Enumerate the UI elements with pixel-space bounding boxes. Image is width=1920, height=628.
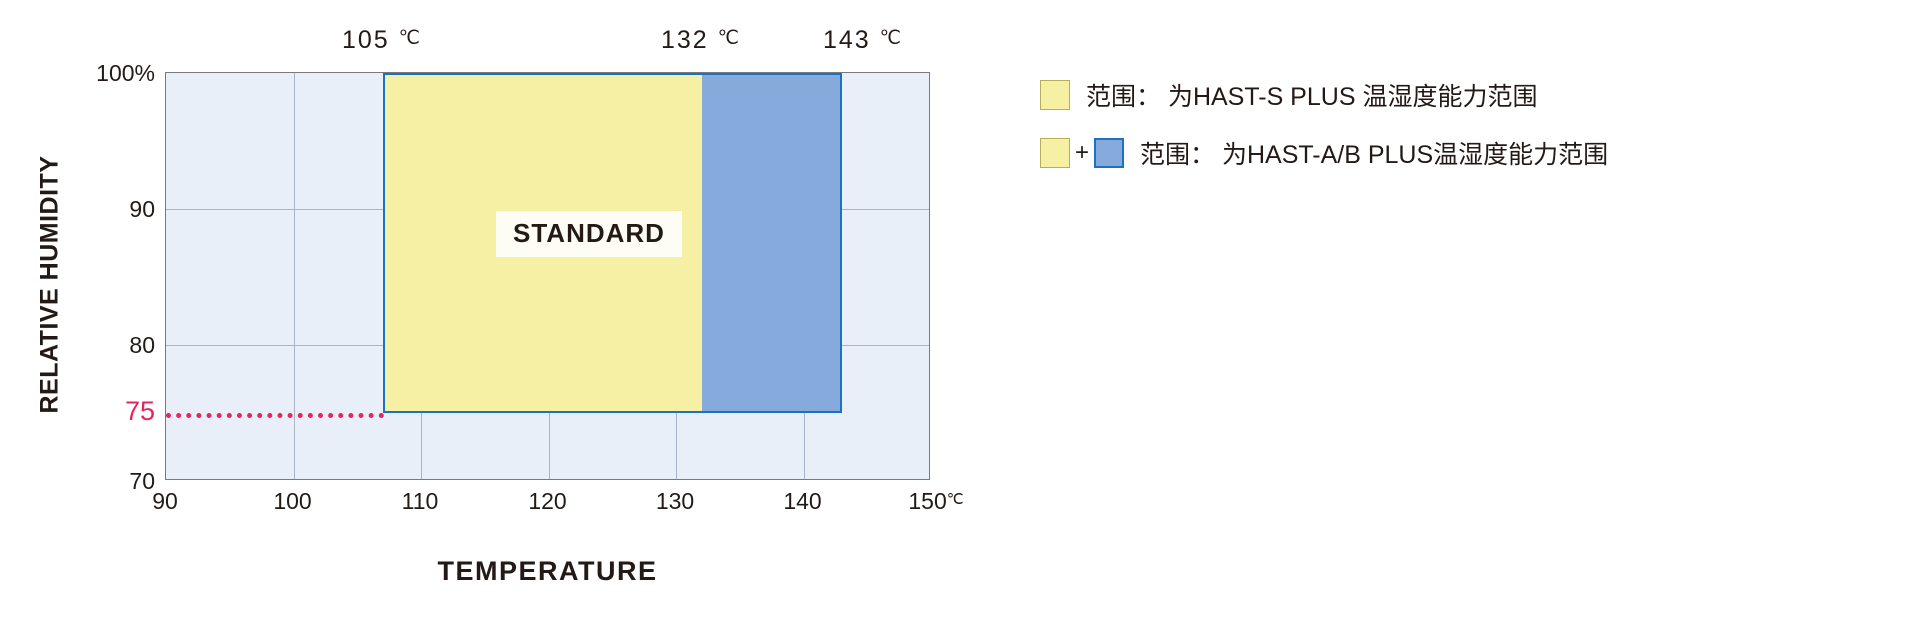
chart-page: 105 ℃ 132 ℃ 143 ℃ RELATIVE HUMIDITY 100%… xyxy=(0,0,1920,628)
gridline-x-100 xyxy=(294,73,295,479)
x-tick-140: 140 xyxy=(783,488,821,515)
legend-label-hast-s: 范围： 为HAST-S PLUS 温湿度能力范围 xyxy=(1086,77,1537,113)
legend-row-hast-ab: + 范围： 为HAST-A/B PLUS温湿度能力范围 xyxy=(1040,130,1900,176)
top-annotation-105-value: 105 xyxy=(342,26,390,54)
top-annotation-132-value: 132 xyxy=(661,26,709,54)
legend: 范围： 为HAST-S PLUS 温湿度能力范围 + 范围： 为HAST-A/B… xyxy=(1040,72,1900,188)
legend-swatch-yellow xyxy=(1040,80,1070,110)
y-tick-100: 100% xyxy=(96,60,155,87)
humidity-temperature-chart: 105 ℃ 132 ℃ 143 ℃ RELATIVE HUMIDITY 100%… xyxy=(0,0,1000,628)
x-tick-110: 110 xyxy=(402,488,439,515)
plot-area: STANDARD xyxy=(165,72,930,480)
top-annotation-143: 143 ℃ xyxy=(823,26,901,55)
top-annotation-143-unit: ℃ xyxy=(880,28,901,49)
legend-plus-sign: + xyxy=(1075,141,1089,165)
y-tick-90: 90 xyxy=(129,196,155,223)
y-tick-80: 80 xyxy=(129,332,155,359)
top-annotation-132-unit: ℃ xyxy=(718,28,739,49)
x-axis-unit: ℃ xyxy=(947,491,964,508)
legend-label-hast-ab: 范围： 为HAST-A/B PLUS温湿度能力范围 xyxy=(1140,135,1608,171)
top-annotation-105: 105 ℃ xyxy=(342,26,420,55)
y-tick-75: 75 xyxy=(125,396,155,427)
legend-swatch-yellow-2 xyxy=(1040,138,1070,168)
y-tick-70: 70 xyxy=(129,468,155,495)
x-tick-150: 150℃ xyxy=(908,488,963,515)
standard-label: STANDARD xyxy=(496,211,682,257)
reference-line-75 xyxy=(166,413,384,418)
top-annotation-132: 132 ℃ xyxy=(661,26,739,55)
x-axis-title: TEMPERATURE xyxy=(165,556,930,587)
x-tick-100: 100 xyxy=(273,488,311,515)
x-tick-150-value: 150 xyxy=(908,488,946,514)
region-hast-ab-plus xyxy=(702,73,842,413)
legend-swatch-blue xyxy=(1094,138,1124,168)
top-annotation-143-value: 143 xyxy=(823,26,871,54)
top-annotation-105-unit: ℃ xyxy=(399,28,420,49)
x-tick-130: 130 xyxy=(656,488,694,515)
legend-row-hast-s: 范围： 为HAST-S PLUS 温湿度能力范围 xyxy=(1040,72,1900,118)
x-tick-120: 120 xyxy=(528,488,566,515)
x-tick-90: 90 xyxy=(152,488,178,515)
y-axis-ticks: 100% 90 80 75 70 xyxy=(0,0,155,628)
